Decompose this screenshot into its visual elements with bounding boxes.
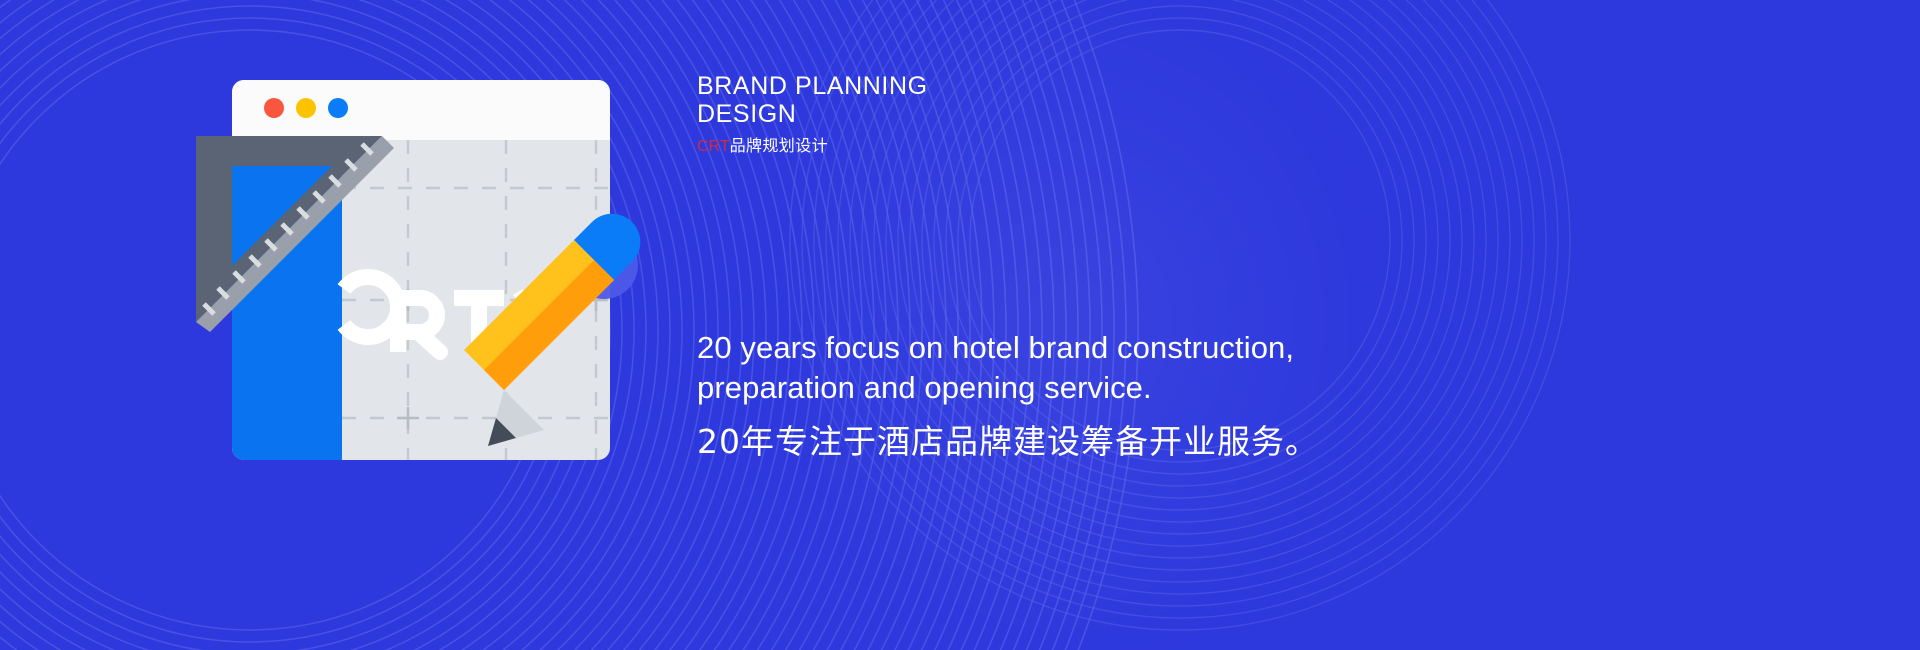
tagline-chinese: 20年专注于酒店品牌建设筹备开业服务。 [697,422,1397,462]
window-control-dots [264,98,348,118]
tagline-block: 20 years focus on hotel brand constructi… [697,328,1397,462]
minimize-dot [296,98,316,118]
headline-chinese-text: 品牌规划设计 [730,136,828,155]
maximize-dot [328,98,348,118]
brand-mark-crt: CRT [697,138,730,155]
headline-block: BRAND PLANNING DESIGN CRT品牌规划设计 [697,72,1337,157]
brand-banner: BRAND PLANNING DESIGN CRT品牌规划设计 20 years… [0,0,1920,650]
tagline-english: 20 years focus on hotel brand constructi… [697,328,1397,408]
close-dot [264,98,284,118]
brand-design-illustration [186,70,686,470]
headline-english: BRAND PLANNING DESIGN [697,72,1337,128]
headline-chinese: CRT品牌规划设计 [697,136,1337,157]
